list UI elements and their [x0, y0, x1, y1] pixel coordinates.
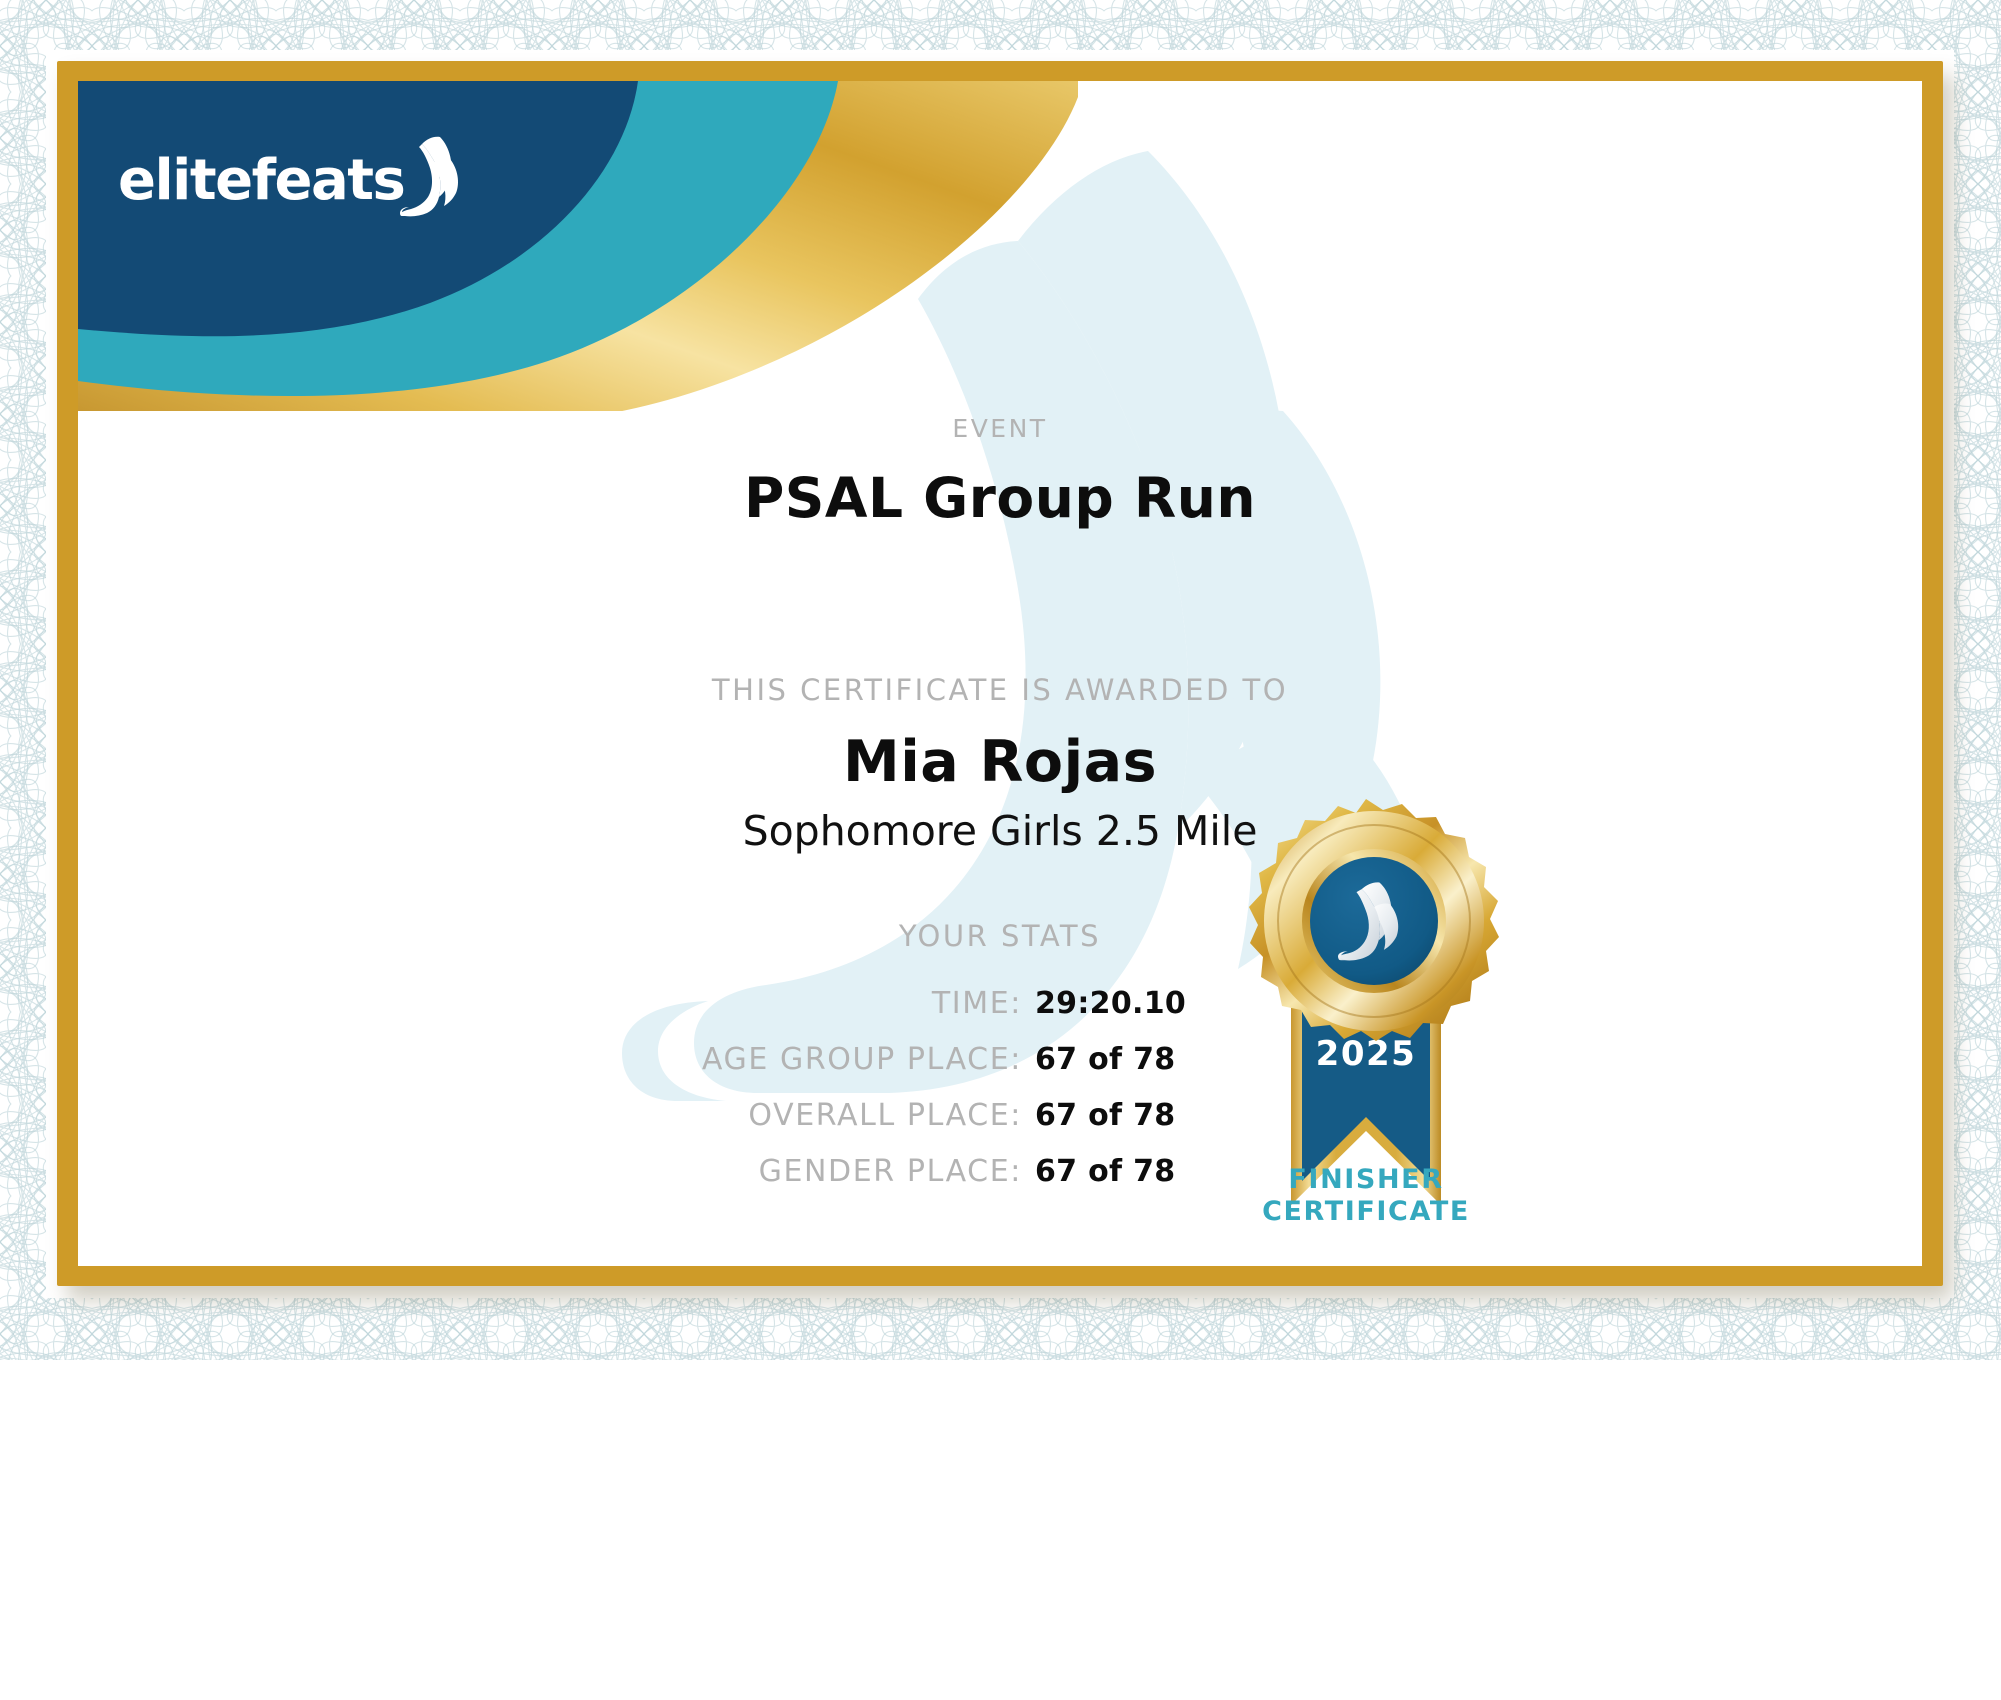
stat-label: OVERALL PLACE: [78, 1098, 1022, 1133]
stat-label: GENDER PLACE: [78, 1154, 1022, 1189]
race-category: Sophomore Girls 2.5 Mile [78, 807, 1922, 855]
stat-value: 67 of 78 [1022, 1154, 1175, 1189]
certificate-body: elitefeats EVENT PSAL Group Run THIS CER… [78, 81, 1922, 1266]
event-label: EVENT [78, 414, 1922, 443]
stat-value: 67 of 78 [1022, 1098, 1175, 1133]
stat-value: 29:20.10 [1022, 986, 1186, 1021]
stat-row-time: TIME: 29:20.10 [78, 986, 1922, 1039]
stats-list: TIME: 29:20.10 AGE GROUP PLACE: 67 of 78… [78, 986, 1922, 1210]
finisher-medal-badge: 2025 [1216, 793, 1516, 1223]
event-title: PSAL Group Run [78, 466, 1922, 530]
awarded-to-label: THIS CERTIFICATE IS AWARDED TO [78, 673, 1922, 707]
recipient-name: Mia Rojas [78, 729, 1922, 795]
stat-row-gender-place: GENDER PLACE: 67 of 78 [78, 1154, 1922, 1207]
stat-value: 67 of 78 [1022, 1042, 1175, 1077]
stat-row-overall-place: OVERALL PLACE: 67 of 78 [78, 1098, 1922, 1151]
medal-caption-line-1: FINISHER [1196, 1164, 1536, 1196]
certificate-content: EVENT PSAL Group Run THIS CERTIFICATE IS… [78, 81, 1922, 1266]
your-stats-label: YOUR STATS [78, 919, 1922, 953]
stat-label: TIME: [78, 986, 1022, 1021]
medal-caption: FINISHER CERTIFICATE [1196, 1164, 1536, 1228]
stat-label: AGE GROUP PLACE: [78, 1042, 1022, 1077]
medal-year-text: 2025 [1316, 1034, 1417, 1074]
stat-row-age-group-place: AGE GROUP PLACE: 67 of 78 [78, 1042, 1922, 1095]
medal-caption-line-2: CERTIFICATE [1196, 1196, 1536, 1228]
certificate-frame: elitefeats EVENT PSAL Group Run THIS CER… [57, 61, 1943, 1286]
medal-disc [1249, 799, 1499, 1041]
